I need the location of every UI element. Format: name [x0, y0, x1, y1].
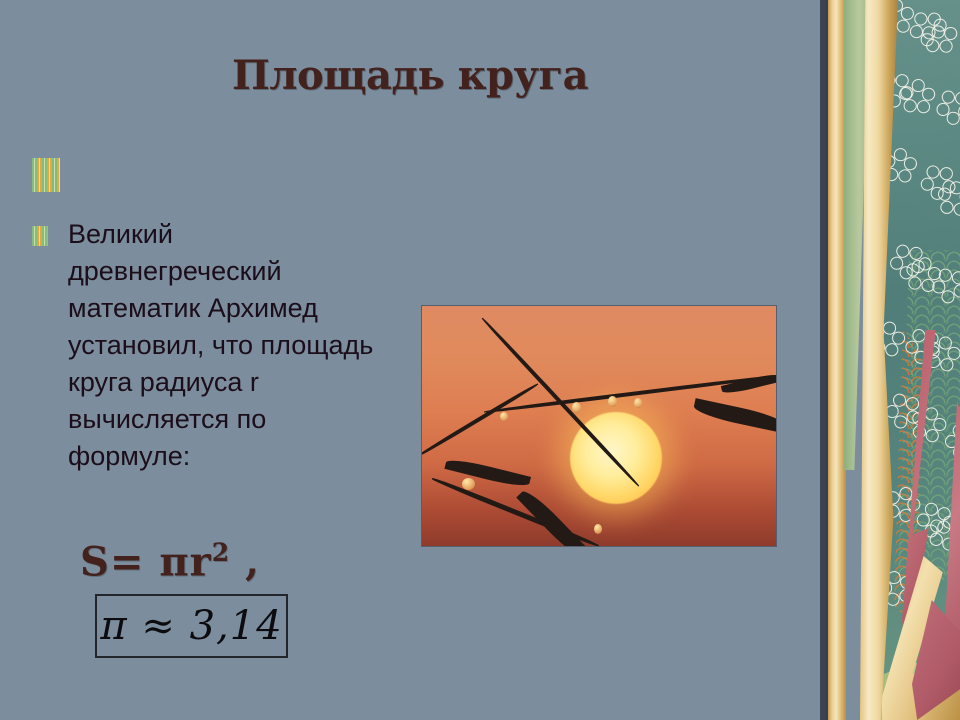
grass-blade [422, 382, 539, 458]
flower-icon [937, 261, 960, 298]
dew-drop [462, 478, 475, 490]
flower-icon [931, 17, 960, 49]
body-paragraph: Великий древнегреческий математик Архиме… [68, 216, 378, 475]
grass-blade [692, 398, 776, 433]
flower-icon [908, 252, 938, 282]
japanese-kimono-border [820, 0, 960, 720]
formula-pi-r: πr [144, 538, 211, 585]
formula-exponent: 2 [212, 538, 229, 567]
dew-drop [634, 398, 642, 408]
pi-value-text: π ≈ 3,14 [100, 603, 282, 649]
formula-comma: , [229, 538, 260, 585]
dew-drop [500, 412, 508, 421]
page-title: Площадь круга [0, 52, 820, 99]
photo-sky [422, 306, 776, 546]
flower-icon [930, 344, 960, 378]
sunset-grass-photo [422, 306, 776, 546]
pi-value-box: π ≈ 3,14 [95, 594, 288, 658]
border-gold-ribbon-left [828, 0, 846, 720]
grass-blade [444, 456, 531, 489]
grass-blade [721, 372, 776, 396]
dew-drop [608, 396, 617, 407]
dew-drop [572, 402, 581, 413]
flower-icon [905, 85, 941, 121]
slide-canvas: Площадь круга Великий древнегреческий ма… [0, 0, 960, 720]
decorative-bullet-paragraph-icon [32, 226, 48, 246]
flower-icon [941, 101, 960, 129]
formula-lhs: S= [80, 538, 144, 585]
dew-drop [594, 524, 602, 534]
decorative-bullet-top-icon [32, 158, 60, 192]
formula-area-circle: S= πr2, [80, 538, 260, 585]
